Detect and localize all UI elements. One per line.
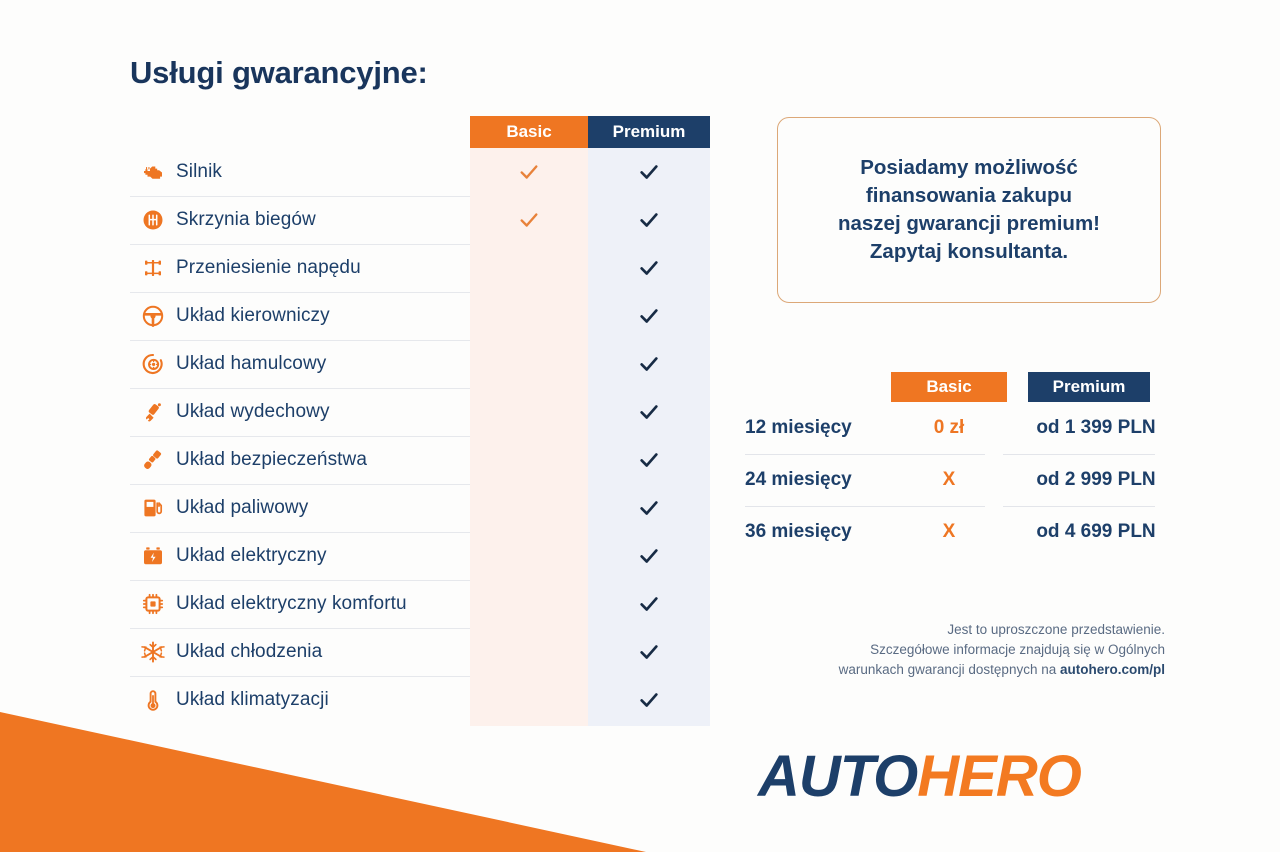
pricing-basic-value: X: [891, 469, 1007, 491]
pricing-row: 24 miesięcy X od 2 999 PLN: [745, 454, 1170, 506]
warranty-services-panel: Usługi gwarancyjne:: [130, 55, 720, 115]
logo-auto-text: AUTO: [758, 744, 917, 809]
row-label: Układ elektryczny komfortu: [176, 593, 470, 615]
disclaimer-line-3: warunkach gwarancji dostępnych na autohe…: [700, 660, 1165, 680]
table-row: Układ bezpieczeństwa: [130, 436, 710, 484]
autohero-logo: AUTOHERO: [758, 748, 1081, 806]
battery-icon: [130, 544, 176, 568]
cell-premium: [588, 353, 710, 375]
cell-premium: [588, 497, 710, 519]
financing-line-1: Posiadamy możliwość: [838, 154, 1100, 182]
pricing-premium-value: od 2 999 PLN: [1007, 469, 1170, 491]
cell-premium: [588, 305, 710, 327]
table-row: Układ klimatyzacji: [130, 676, 710, 724]
autohero-website-link[interactable]: autohero.com/pl: [1060, 662, 1165, 677]
chip-icon: [130, 592, 176, 616]
cell-premium: [588, 641, 710, 663]
cell-premium: [588, 689, 710, 711]
row-label: Skrzynia biegów: [176, 209, 470, 231]
pricing-basic-value: X: [891, 521, 1007, 543]
snowflake-icon: [130, 640, 176, 664]
cell-premium: [588, 209, 710, 231]
row-label: Układ bezpieczeństwa: [176, 449, 470, 471]
gearbox-icon: [130, 208, 176, 232]
financing-line-2: finansowania zakupu: [838, 182, 1100, 210]
table-row: Układ kierowniczy: [130, 292, 710, 340]
disclaimer-line-3-prefix: warunkach gwarancji dostępnych na: [839, 662, 1060, 677]
feature-rows-list: Silnik Skrzynia biegów Przeniesienie nap…: [130, 148, 710, 724]
cell-premium: [588, 257, 710, 279]
disclaimer-line-2: Szczegółowe informacje znajdują się w Og…: [700, 640, 1165, 660]
pricing-table: Basic Premium 12 miesięcy 0 zł od 1 399 …: [745, 372, 1170, 558]
row-label: Układ wydechowy: [176, 401, 470, 423]
cell-premium: [588, 593, 710, 615]
table-row: Układ hamulcowy: [130, 340, 710, 388]
pricing-premium-value: od 4 699 PLN: [1007, 521, 1170, 543]
cell-premium: [588, 401, 710, 423]
row-label: Układ hamulcowy: [176, 353, 470, 375]
pricing-row: 36 miesięcy X od 4 699 PLN: [745, 506, 1170, 558]
disclaimer-line-1: Jest to uproszczone przedstawienie.: [700, 620, 1165, 640]
financing-line-3: naszej gwarancji premium!: [838, 210, 1100, 238]
steering-wheel-icon: [130, 304, 176, 328]
pricing-premium-value: od 1 399 PLN: [1007, 417, 1170, 439]
table-row: Silnik: [130, 148, 710, 196]
row-label: Przeniesienie napędu: [176, 257, 470, 279]
table-row: Układ chłodzenia: [130, 628, 710, 676]
table-row: Układ paliwowy: [130, 484, 710, 532]
table-row: Układ wydechowy: [130, 388, 710, 436]
financing-line-4: Zapytaj konsultanta.: [838, 238, 1100, 266]
pricing-term: 24 miesięcy: [745, 469, 891, 491]
pricing-term: 36 miesięcy: [745, 521, 891, 543]
pricing-basic-value: 0 zł: [891, 417, 1007, 439]
table-row: Skrzynia biegów: [130, 196, 710, 244]
row-label: Układ chłodzenia: [176, 641, 470, 663]
pricing-term: 12 miesięcy: [745, 417, 891, 439]
pricing-row: 12 miesięcy 0 zł od 1 399 PLN: [745, 402, 1170, 454]
disclaimer-text: Jest to uproszczone przedstawienie. Szcz…: [700, 620, 1165, 680]
table-row: Przeniesienie napędu: [130, 244, 710, 292]
logo-hero-text: HERO: [917, 744, 1081, 809]
pricing-header-basic: Basic: [891, 372, 1007, 402]
row-label: Układ kierowniczy: [176, 305, 470, 327]
fuel-pump-icon: [130, 496, 176, 520]
drivetrain-icon: [130, 256, 176, 280]
pricing-header-premium: Premium: [1028, 372, 1150, 402]
brake-icon: [130, 352, 176, 376]
column-header-premium: Premium: [588, 116, 710, 148]
table-row: Układ elektryczny komfortu: [130, 580, 710, 628]
row-label: Układ paliwowy: [176, 497, 470, 519]
financing-callout-text: Posiadamy możliwość finansowania zakupu …: [838, 154, 1100, 266]
row-label: Układ elektryczny: [176, 545, 470, 567]
thermometer-icon: [130, 688, 176, 712]
cell-premium: [588, 449, 710, 471]
column-header-basic: Basic: [470, 116, 588, 148]
exhaust-icon: [130, 400, 176, 424]
pricing-table-header: Basic Premium: [745, 372, 1170, 402]
financing-callout-box: Posiadamy możliwość finansowania zakupu …: [777, 117, 1161, 303]
row-label: Silnik: [176, 161, 470, 183]
seatbelt-icon: [130, 448, 176, 472]
cell-basic: [470, 209, 588, 231]
row-label: Układ klimatyzacji: [176, 689, 470, 711]
cell-premium: [588, 161, 710, 183]
engine-icon: [130, 160, 176, 184]
cell-premium: [588, 545, 710, 567]
page-title: Usługi gwarancyjne:: [130, 55, 720, 91]
cell-basic: [470, 161, 588, 183]
table-row: Układ elektryczny: [130, 532, 710, 580]
